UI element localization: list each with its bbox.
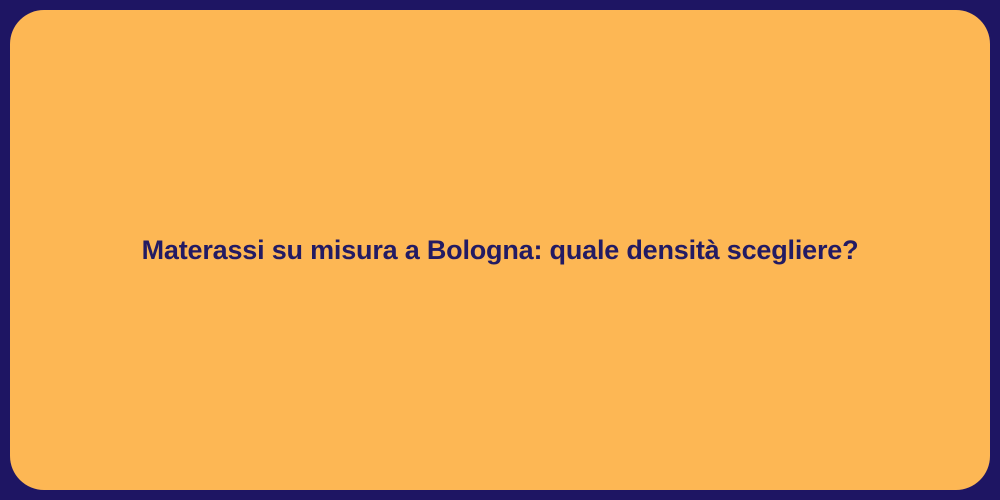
banner-card: Materassi su misura a Bologna: quale den… (10, 10, 990, 490)
banner-frame: Materassi su misura a Bologna: quale den… (0, 0, 1000, 500)
banner-headline: Materassi su misura a Bologna: quale den… (82, 232, 919, 268)
